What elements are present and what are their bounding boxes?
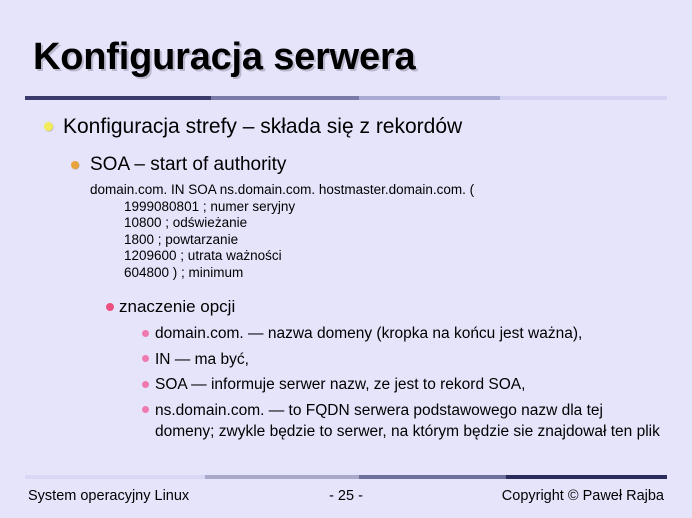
header-divider-segment-4: [500, 96, 667, 100]
bullet-dot-icon: [71, 161, 79, 169]
record-line-header: domain.com. IN SOA ns.domain.com. hostma…: [90, 182, 692, 199]
header-divider-segment-1: [25, 96, 211, 100]
footer-divider-segment-2: [205, 475, 359, 479]
slide-header: Konfiguracja serwera: [0, 34, 692, 94]
bullet-level1-label: Konfiguracja strefy – składa się z rekor…: [63, 115, 462, 138]
spacer: [0, 142, 692, 151]
dns-record-block: domain.com. IN SOA ns.domain.com. hostma…: [0, 182, 692, 281]
record-line-expire: 1209600 ; utrata ważności: [90, 248, 692, 265]
bullet-level3-znaczenie-opcji: znaczenie opcji: [0, 294, 692, 319]
header-divider: [25, 96, 667, 100]
record-line-serial: 1999080801 ; numer seryjny: [90, 199, 692, 216]
bullet-dot-icon: [106, 303, 114, 311]
footer-divider-segment-3: [359, 475, 507, 479]
spacer: [0, 281, 692, 294]
header-divider-segment-3: [359, 96, 500, 100]
bullet-level2-soa: SOA – start of authority: [0, 151, 692, 178]
bullet-level4-label: IN — ma być,: [155, 351, 249, 368]
bullet-level4-label: domain.com. — nazwa domeny (kropka na ko…: [155, 325, 582, 342]
bullet-level2-label: SOA – start of authority: [90, 154, 286, 175]
bullet-level4-domain-com: domain.com. — nazwa domeny (kropka na ko…: [0, 323, 692, 345]
bullet-dot-icon: [142, 330, 149, 337]
record-line-minimum: 604800 ) ; minimum: [90, 265, 692, 282]
footer-divider-segment-1: [25, 475, 205, 479]
record-line-refresh: 10800 ; odświeżanie: [90, 215, 692, 232]
bullet-level4-ns-domain-com: ns.domain.com. — to FQDN serwera podstaw…: [0, 400, 692, 443]
bullet-level4-label: ns.domain.com. — to FQDN serwera podstaw…: [155, 402, 660, 441]
record-line-retry: 1800 ; powtarzanie: [90, 232, 692, 249]
bullet-level1-konfiguracja-strefy: Konfiguracja strefy – składa się z rekor…: [0, 112, 692, 142]
bullet-dot-icon: [142, 381, 149, 388]
slide-body: Konfiguracja strefy – składa się z rekor…: [0, 112, 692, 443]
header-divider-segment-2: [211, 96, 359, 100]
bullet-dot-icon: [142, 406, 149, 413]
slide-footer: System operacyjny Linux - 25 - Copyright…: [0, 484, 692, 508]
page-title: Konfiguracja serwera: [33, 34, 415, 80]
footer-divider: [25, 475, 667, 479]
bullet-level4-in: IN — ma być,: [0, 349, 692, 371]
bullet-level4-label: SOA — informuje serwer nazw, ze jest to …: [155, 376, 525, 393]
bullet-dot-icon: [44, 122, 53, 131]
footer-copyright: Copyright © Paweł Rajba: [502, 484, 664, 508]
bullet-level3-label: znaczenie opcji: [119, 297, 235, 316]
footer-divider-segment-4: [506, 475, 667, 479]
bullet-dot-icon: [142, 355, 149, 362]
bullet-level4-soa: SOA — informuje serwer nazw, ze jest to …: [0, 374, 692, 396]
